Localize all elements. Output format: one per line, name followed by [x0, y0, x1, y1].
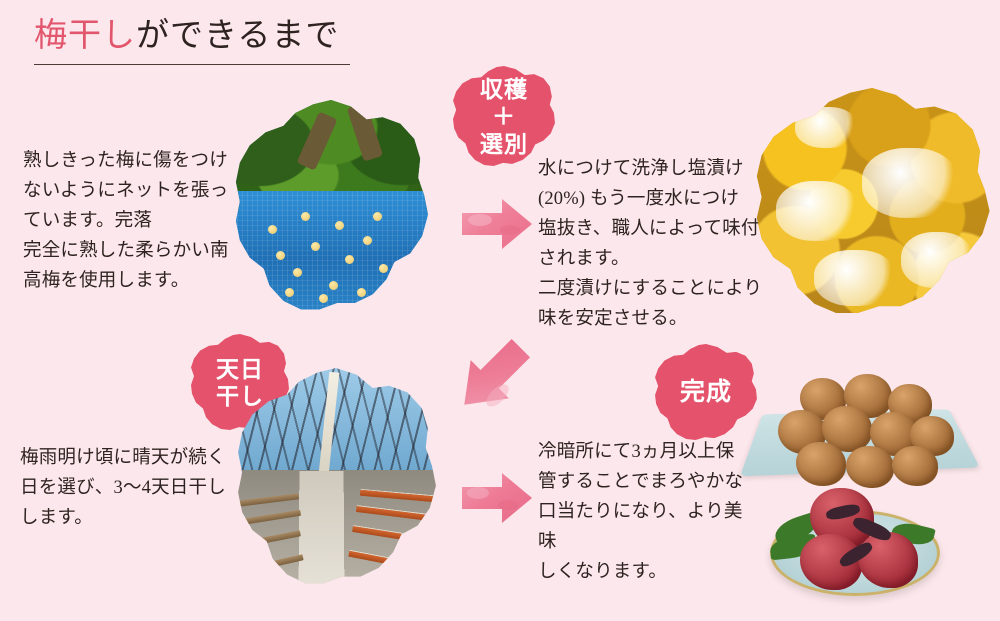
arrow-step1-to-step2-icon: [462, 196, 532, 252]
page-title-rest: ができるまで: [136, 18, 339, 54]
badge-harvest-and-sorting: 収穫 ＋ 選別: [452, 66, 556, 168]
page-title-highlight: 梅干し: [34, 18, 136, 54]
badge-completed-label: 完成: [680, 378, 732, 408]
page-title: 梅干しができるまで: [34, 14, 364, 65]
arrow-step3-to-step4-icon: [462, 470, 532, 526]
badge-sun-drying-label: 天日 干し: [216, 356, 264, 410]
step-1-description: 熟しきった梅に傷をつけないようにネットを張っています。完落 完全に熟した柔らかい…: [23, 146, 245, 296]
finished-umeboshi-plates-photo: [742, 372, 1000, 621]
arrow-step2-to-step3-icon: [448, 336, 540, 414]
step-2-description: 水につけて洗浄し塩漬け (20%) もう一度水につけ 塩抜き、職人によって味付 …: [538, 154, 766, 334]
salted-yellow-plums-photo: [752, 88, 992, 320]
title-underline-divider: [34, 64, 350, 65]
step-3-description: 梅雨明け頃に晴天が続く 日を選び、3〜4天日干し します。: [20, 443, 248, 533]
step-4-description: 冷暗所にて3ヵ月以上保 管することでまろやかな 口当たりになり、より美味 しくな…: [538, 437, 753, 587]
orchard-with-blue-net-photo: [232, 100, 430, 316]
badge-harvest-label: 収穫 ＋ 選別: [480, 76, 528, 157]
infographic-page: 梅干しができるまで 熟しきった梅に傷をつけないようにネットを張っています。完落 …: [0, 0, 1000, 621]
